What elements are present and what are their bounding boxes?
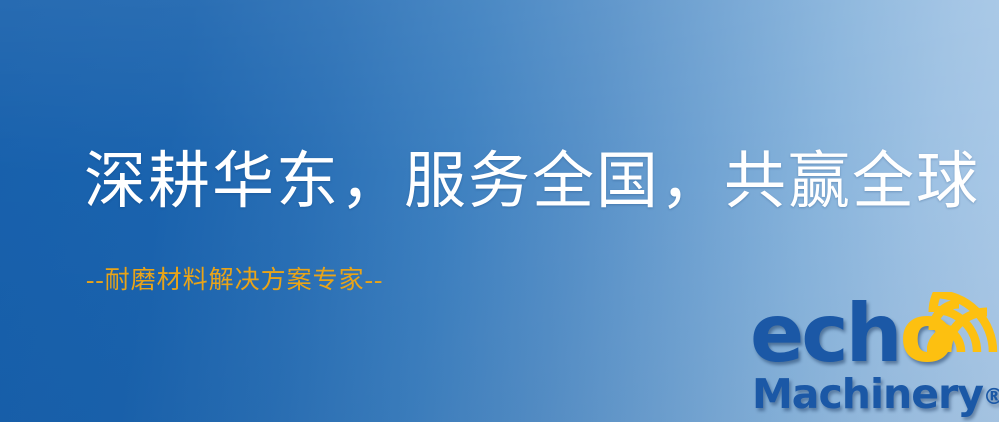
logo-wordmark: echo [750,294,952,374]
wifi-signal-arcs-icon [927,292,999,358]
promotional-banner: 深耕华东，服务全国，共赢全球 --耐磨材料解决方案专家-- echo Machi… [0,0,999,422]
banner-subtitle: --耐磨材料解决方案专家-- [86,266,383,296]
logo-tagline-text: Machinery [752,370,983,418]
company-logo[interactable]: echo Machinery® [744,294,999,422]
banner-headline: 深耕华东，服务全国，共赢全球 [84,146,980,218]
registered-trademark-icon: ® [983,385,999,410]
logo-wordmark-blue-part: ech [750,287,900,380]
logo-tagline: Machinery® [752,372,999,420]
